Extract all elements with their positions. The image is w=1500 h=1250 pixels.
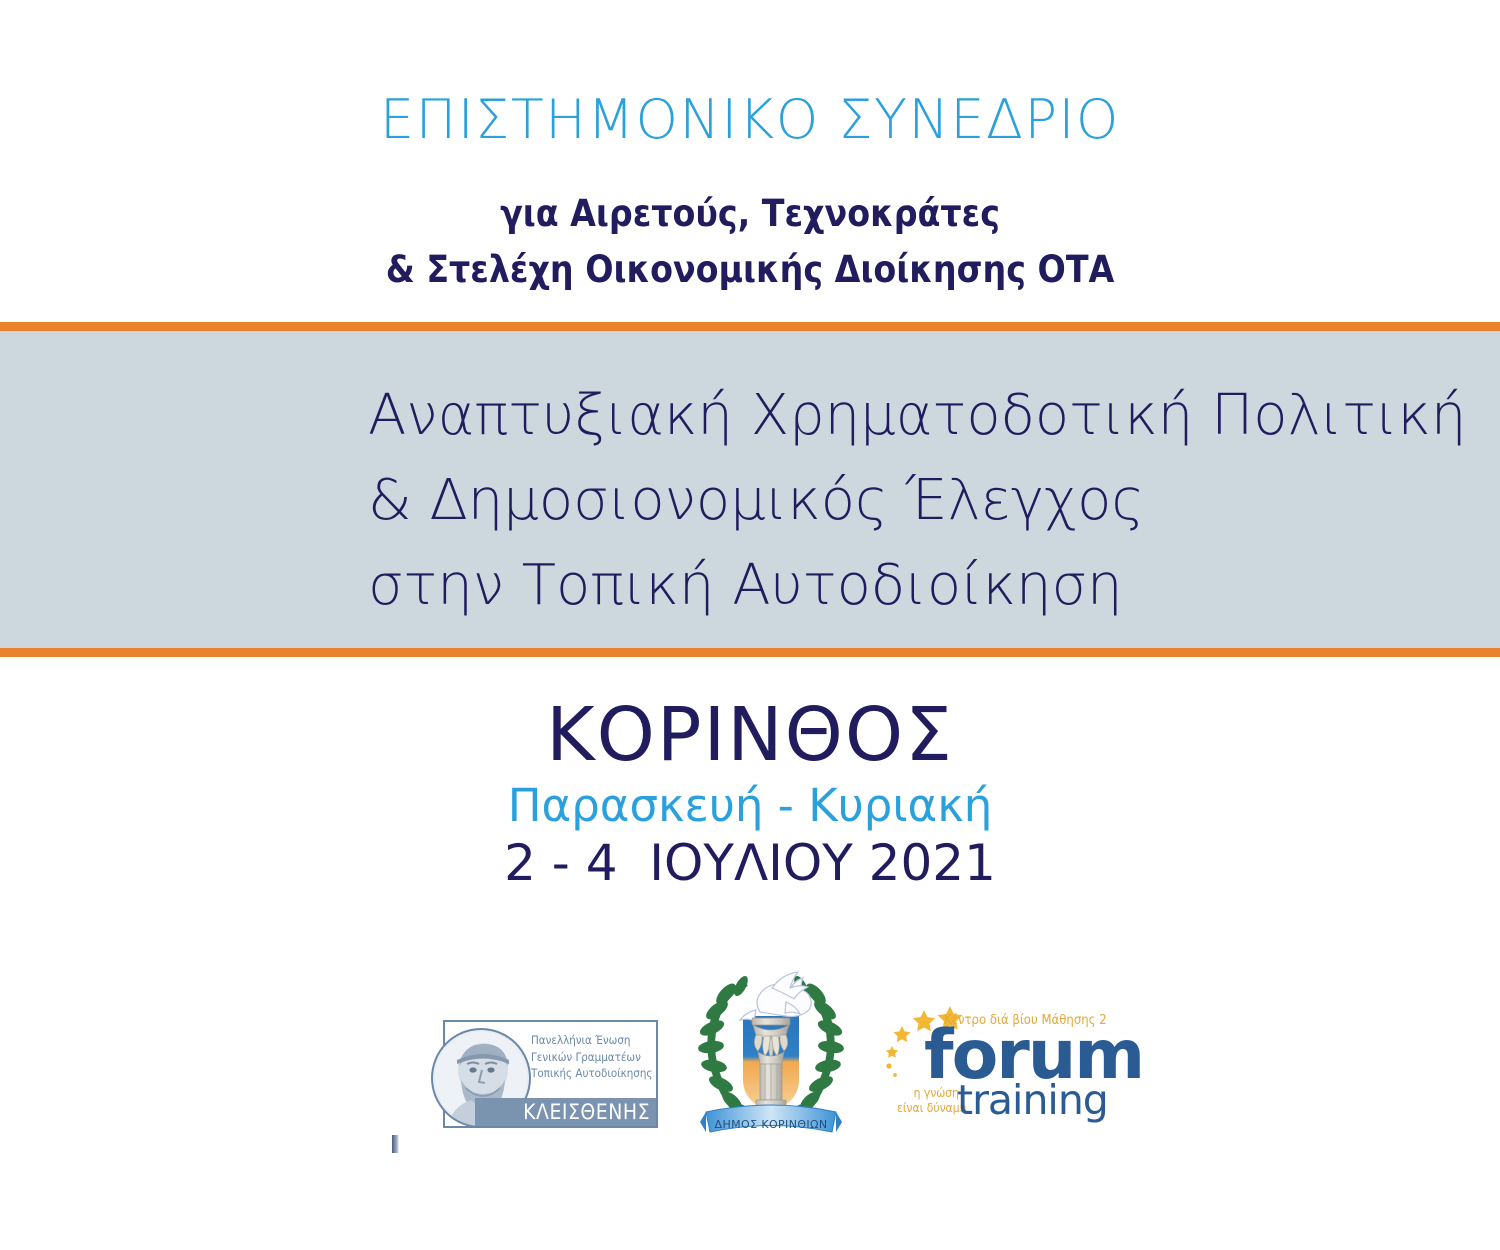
main-title-line-1: Αναπτυξιακή Χρηματοδοτική Πολιτική <box>368 373 1488 458</box>
forum-subword: training <box>957 1080 1108 1121</box>
main-title: Αναπτυξιακή Χρηματοδοτική Πολιτική & Δημ… <box>368 373 1488 628</box>
logo-dimos-korinthion: ΔΗΜΟΣ ΚΟΡΙΝΘΙΩΝ <box>686 952 856 1148</box>
forum-tagline-line-1: η γνώση <box>897 1086 959 1101</box>
korinthos-crest-icon: ΔΗΜΟΣ ΚΟΡΙΝΘΙΩΝ <box>686 952 856 1148</box>
conference-poster: ΕΠΙΣΤΗΜΟΝΙΚΟ ΣΥΝΕΔΡΙΟ για Αιρετούς, Τεχν… <box>0 0 1500 1250</box>
scan-artifact <box>392 1135 399 1153</box>
forum-tagline: η γνώση είναι δύναμη <box>897 1086 959 1116</box>
event-date: 2 - 4 ΙΟΥΛΙΟΥ 2021 <box>0 838 1500 888</box>
subtitle-line-2: & Στελέχη Οικονομικής Διοίκησης ΟΤΑ <box>0 242 1500 298</box>
subtitle-line-1: για Αιρετούς, Τεχνοκράτες <box>0 186 1500 242</box>
kleisthenis-banner: ΚΛΕΙΣΘΕΝΗΣ <box>475 1098 656 1126</box>
title-band: Αναπτυξιακή Χρηματοδοτική Πολιτική & Δημ… <box>0 331 1500 648</box>
kleisthenis-org-text: Πανελλήνια Ένωση Γενικών Γραμματέων Τοπι… <box>531 1032 655 1082</box>
kleisthenis-text-line-2: Γενικών Γραμματέων <box>531 1049 655 1066</box>
kleisthenis-text-line-3: Τοπικής Αυτοδιοίκησης <box>531 1065 655 1082</box>
logo-forum-training: Κέντρο διά βίου Μάθησης 2 forum η γνώση … <box>862 1004 1087 1124</box>
logo-kleisthenis: Πανελλήνια Ένωση Γενικών Γραμματέων Τοπι… <box>443 1020 658 1128</box>
divider-rule-bottom <box>0 648 1500 657</box>
subtitle-block: για Αιρετούς, Τεχνοκράτες & Στελέχη Οικο… <box>0 186 1500 298</box>
event-location: ΚΟΡΙΝΘΟΣ <box>0 698 1500 772</box>
logo-row: Πανελλήνια Ένωση Γενικών Γραμματέων Τοπι… <box>0 952 1500 1162</box>
kleisthenis-text-line-1: Πανελλήνια Ένωση <box>531 1032 655 1049</box>
forum-tagline-line-2: είναι δύναμη <box>897 1101 959 1116</box>
poster-header: ΕΠΙΣΤΗΜΟΝΙΚΟ ΣΥΝΕΔΡΙΟ για Αιρετούς, Τεχν… <box>0 0 1500 322</box>
main-title-line-3: στην Τοπική Αυτοδιοίκηση <box>368 543 1488 628</box>
event-day-range: Παρασκευή - Κυριακή <box>0 783 1500 828</box>
divider-rule-top <box>0 322 1500 331</box>
svg-text:ΔΗΜΟΣ ΚΟΡΙΝΘΙΩΝ: ΔΗΜΟΣ ΚΟΡΙΝΘΙΩΝ <box>715 1118 828 1131</box>
main-title-line-2: & Δημοσιονομικός Έλεγχος <box>368 458 1488 543</box>
eyebrow-heading: ΕΠΙΣΤΗΜΟΝΙΚΟ ΣΥΝΕΔΡΙΟ <box>0 92 1500 149</box>
